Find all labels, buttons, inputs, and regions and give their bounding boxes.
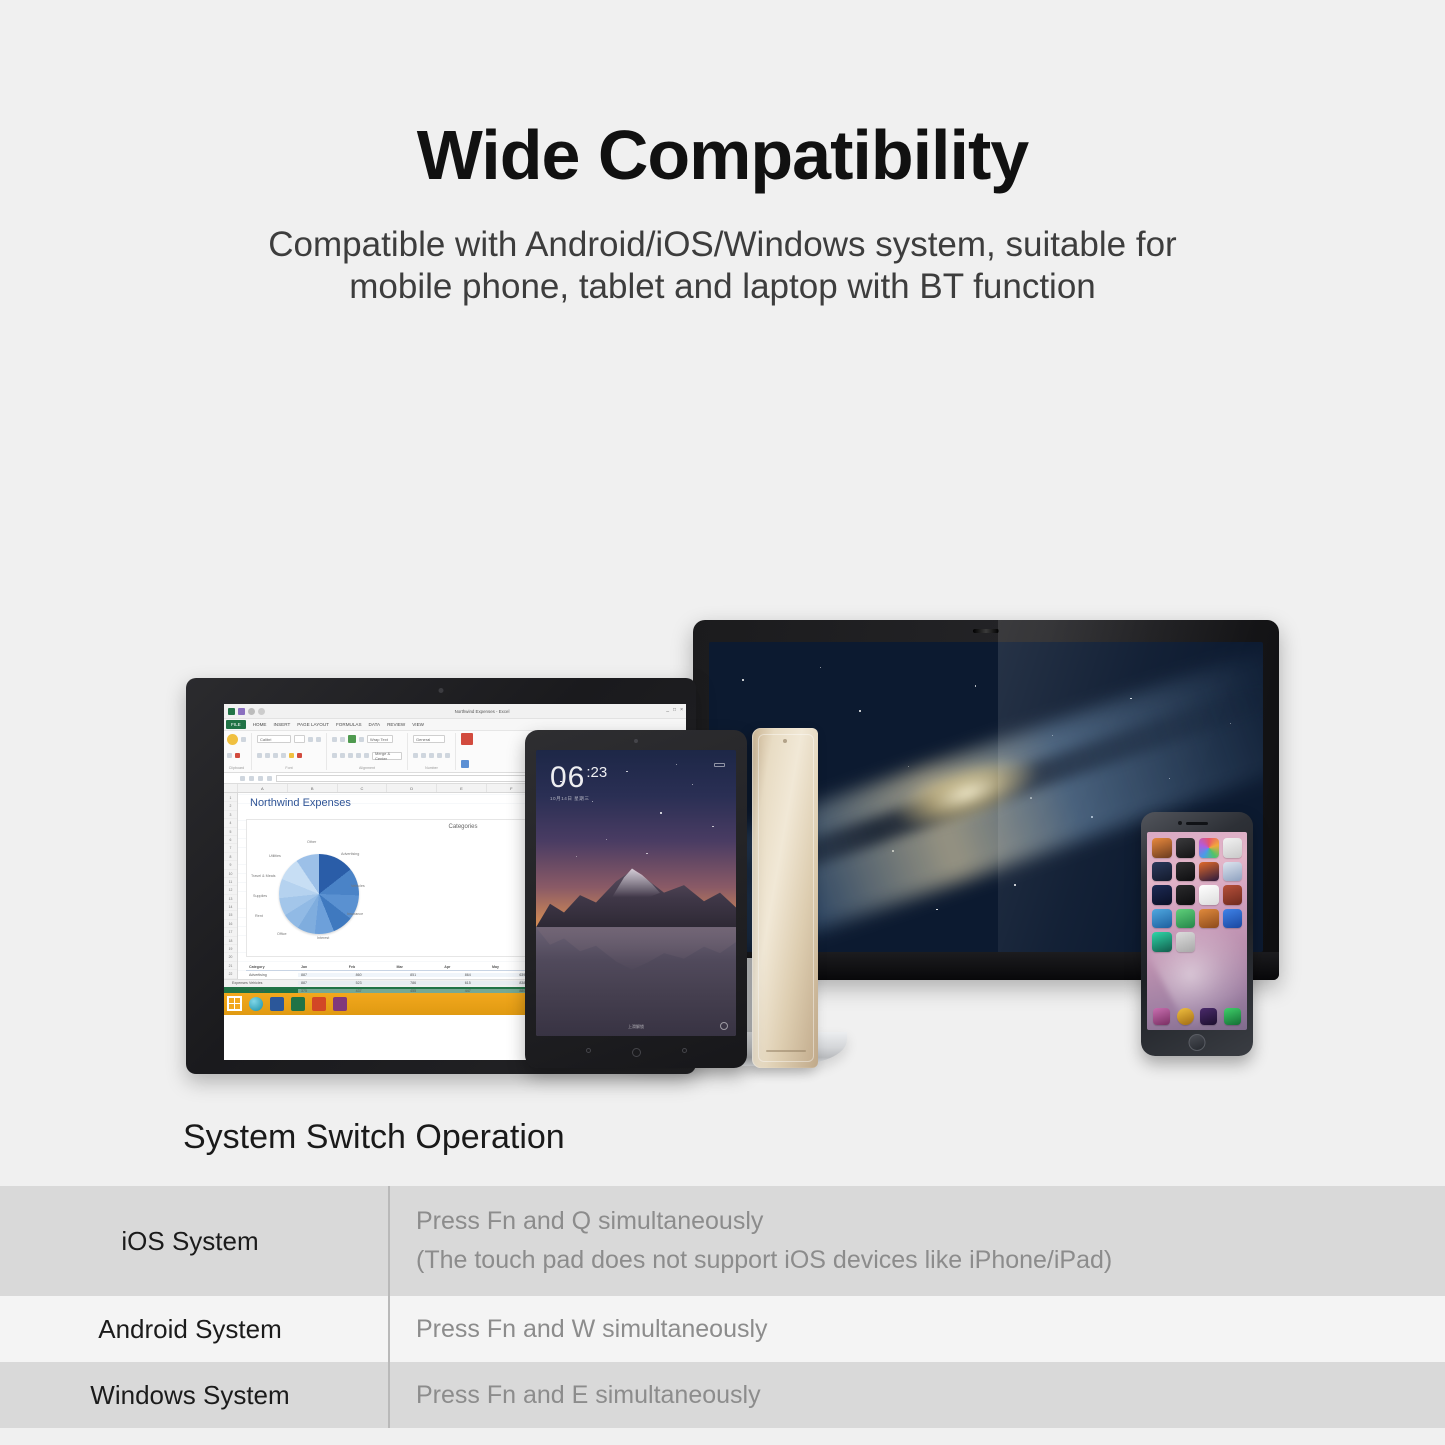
accept-formula-icon[interactable]	[258, 776, 263, 781]
tab-file[interactable]: FILE	[226, 720, 246, 729]
font-color-icon[interactable]	[297, 753, 302, 758]
row-header[interactable]: 2	[224, 802, 237, 810]
switch-section-heading: System Switch Operation	[183, 1118, 565, 1157]
row-header[interactable]: 18	[224, 937, 237, 945]
row-header[interactable]: 1	[224, 794, 237, 802]
row-header[interactable]: 22	[224, 970, 237, 978]
recents-key-icon[interactable]	[682, 1048, 687, 1053]
cell-value: 375	[298, 989, 353, 993]
col-jan: Jan	[298, 965, 346, 969]
align-center-icon[interactable]	[340, 753, 345, 758]
app-icon[interactable]	[1223, 838, 1243, 858]
pie-chart-slices	[279, 854, 359, 934]
window-controls[interactable]: _ □ ×	[666, 707, 683, 713]
cell-value: 615	[462, 981, 517, 985]
table-row-android[interactable]: Android System Press Fn and W simultaneo…	[0, 1296, 1445, 1362]
pie-label-travel-meals: Travel & Meals	[251, 874, 275, 878]
app-icon[interactable]	[1152, 862, 1172, 882]
close-icon[interactable]: ×	[680, 707, 683, 713]
font-name-box[interactable]: Calibri	[257, 735, 291, 743]
increase-font-icon[interactable]	[308, 737, 313, 742]
ribbon-group-font[interactable]: Calibri Font	[257, 733, 327, 770]
cell-value: 887	[298, 981, 353, 985]
row-header[interactable]: 5	[224, 828, 237, 836]
device-showcase: Northwind Expenses - Excel _ □ × FILE HO…	[0, 600, 1445, 1100]
cut-icon[interactable]	[241, 737, 246, 742]
copy-icon[interactable]	[227, 753, 232, 758]
app-grid[interactable]	[1152, 838, 1242, 952]
cell-styles-icon[interactable]	[461, 760, 469, 768]
ribbon-group-alignment[interactable]: Wrap Text Merge & Center Alignment	[332, 733, 408, 770]
pie-label-other: Other	[307, 840, 316, 844]
row-header[interactable]: 15	[224, 911, 237, 919]
lake-surface	[536, 927, 736, 1036]
clock-minutes: :23	[586, 764, 607, 781]
excel-icon[interactable]	[291, 997, 305, 1011]
format-painter-icon[interactable]	[235, 753, 240, 758]
pie-label-office: Office	[277, 932, 287, 936]
col-category: Category	[246, 965, 298, 969]
column-header-c[interactable]: C	[338, 784, 388, 792]
select-all-corner[interactable]	[224, 784, 238, 792]
row-header[interactable]: 12	[224, 886, 237, 894]
row-header[interactable]: 21	[224, 962, 237, 970]
lake-reflection	[536, 927, 736, 973]
table-row-ios[interactable]: iOS System Press Fn and Q simultaneously…	[0, 1186, 1445, 1296]
borders-icon[interactable]	[281, 753, 286, 758]
cell-category: Vehicles	[246, 981, 298, 985]
ios-instruction: Press Fn and Q simultaneously	[416, 1202, 1445, 1241]
tab-view[interactable]: VIEW	[412, 722, 424, 727]
col-feb: Feb	[346, 965, 394, 969]
sheet-heading: Northwind Expenses	[250, 797, 351, 809]
align-bottom-icon[interactable]	[348, 735, 356, 743]
tablet-camera-icon	[634, 739, 638, 743]
windows-instruction: Press Fn and E simultaneously	[416, 1376, 1445, 1415]
battery-icon	[714, 763, 725, 767]
row-header[interactable]: 16	[224, 920, 237, 928]
decrease-decimal-icon[interactable]	[445, 753, 450, 758]
row-desc-android: Press Fn and W simultaneously	[388, 1296, 1445, 1362]
app-icon[interactable]	[1199, 909, 1219, 929]
comma-icon[interactable]	[429, 753, 434, 758]
column-header-d[interactable]: D	[387, 784, 437, 792]
app-icon[interactable]	[1176, 885, 1196, 905]
tab-insert[interactable]: INSERT	[273, 722, 290, 727]
align-left-icon[interactable]	[332, 753, 337, 758]
group-label-alignment: Alignment	[332, 766, 402, 770]
percent-icon[interactable]	[421, 753, 426, 758]
insert-function-icon[interactable]	[267, 776, 272, 781]
row-header[interactable]: 9	[224, 861, 237, 869]
pie-label-supplies: Supplies	[253, 894, 267, 898]
phone-front-camera-icon	[1178, 821, 1182, 825]
pie-chart[interactable]: Other Advertising Vehicles Insurance Int…	[255, 838, 367, 950]
maximize-icon[interactable]: □	[673, 707, 676, 713]
edge-icon[interactable]	[249, 997, 263, 1011]
gold-tablet-back	[752, 728, 818, 1068]
row-header[interactable]: 14	[224, 903, 237, 911]
app-icon[interactable]	[1176, 932, 1196, 952]
app-icon[interactable]	[1176, 909, 1196, 929]
pie-label-utilities: Utilities	[269, 854, 281, 858]
pie-label-rent: Rent	[255, 914, 263, 918]
cancel-formula-icon[interactable]	[249, 776, 254, 781]
pie-label-vehicles: Vehicles	[351, 884, 365, 888]
row-header[interactable]: 6	[224, 836, 237, 844]
messages-icon[interactable]	[1224, 1008, 1241, 1025]
page-subtitle: Compatible with Android/iOS/Windows syst…	[0, 224, 1445, 309]
app-icon[interactable]	[1176, 838, 1196, 858]
decrease-indent-icon[interactable]	[356, 753, 361, 758]
tablet-lockscreen[interactable]: 06:23 10月14日 星期三 上滑解锁	[536, 750, 736, 1036]
home-key-icon[interactable]	[632, 1048, 641, 1057]
phone-app-icon[interactable]	[1153, 1008, 1170, 1025]
italic-icon[interactable]	[265, 753, 270, 758]
system-switch-table: iOS System Press Fn and Q simultaneously…	[0, 1186, 1445, 1428]
row-header[interactable]: 4	[224, 819, 237, 827]
android-instruction: Press Fn and W simultaneously	[416, 1310, 1445, 1349]
subtitle-line-2: mobile phone, tablet and laptop with BT …	[0, 266, 1445, 309]
app-slot-empty	[1223, 932, 1243, 952]
redo-icon[interactable]	[258, 708, 265, 715]
table-row-windows[interactable]: Windows System Press Fn and E simultaneo…	[0, 1362, 1445, 1428]
unlock-hint: 上滑解锁	[536, 1024, 736, 1030]
group-label-number: Number	[413, 766, 450, 770]
cell-value: 447	[462, 989, 517, 993]
row-header[interactable]: 20	[224, 953, 237, 961]
cell-value: 851	[407, 973, 462, 977]
tab-home[interactable]: HOME	[253, 722, 267, 727]
cell-category: Insurance	[246, 989, 298, 993]
word-icon[interactable]	[270, 997, 284, 1011]
excel-row-headers[interactable]: 1 2 3 4 5 6 7 8 9 10 11 12 13 14 15 16 1	[224, 793, 238, 979]
col-mar: Mar	[394, 965, 442, 969]
ios-note: (The touch pad does not support iOS devi…	[416, 1241, 1445, 1280]
app-icon[interactable]	[1152, 909, 1172, 929]
number-format-box[interactable]: General	[413, 735, 445, 743]
cell-value: 523	[353, 981, 408, 985]
music-icon[interactable]	[1200, 1008, 1217, 1025]
gold-tablet-edge-line	[758, 734, 814, 1062]
wrap-text-button[interactable]: Wrap Text	[367, 735, 393, 743]
app-icon[interactable]	[1176, 862, 1196, 882]
undo-icon[interactable]	[248, 708, 255, 715]
onenote-icon[interactable]	[333, 997, 347, 1011]
conditional-formatting-icon[interactable]	[461, 733, 473, 745]
clock-hours: 06	[550, 764, 585, 793]
row-header[interactable]: 13	[224, 895, 237, 903]
paste-icon[interactable]	[227, 734, 238, 745]
increase-indent-icon[interactable]	[364, 753, 369, 758]
row-label-windows: Windows System	[0, 1380, 388, 1411]
pie-label-interest: Interest	[317, 936, 329, 940]
cell-category: Advertising	[246, 973, 298, 977]
tab-data[interactable]: DATA	[369, 722, 381, 727]
row-header[interactable]: 19	[224, 945, 237, 953]
app-icon[interactable]	[1223, 885, 1243, 905]
row-desc-windows: Press Fn and E simultaneously	[388, 1362, 1445, 1428]
decrease-font-icon[interactable]	[316, 737, 321, 742]
bold-icon[interactable]	[257, 753, 262, 758]
cell-value: 455	[407, 989, 462, 993]
row-header[interactable]: 8	[224, 853, 237, 861]
monitor-webcam-icon	[973, 629, 999, 633]
lockscreen-date: 10月14日 星期三	[550, 796, 607, 802]
app-icon[interactable]	[1199, 862, 1219, 882]
gold-tablet-camera-icon	[783, 739, 787, 743]
safari-icon[interactable]	[1177, 1008, 1194, 1025]
column-header-a[interactable]: A	[238, 784, 288, 792]
app-icon[interactable]	[1152, 838, 1172, 858]
tab-formulas[interactable]: FORMULAS	[336, 722, 362, 727]
app-icon[interactable]	[1152, 932, 1172, 952]
pie-label-insurance: Insurance	[347, 912, 363, 916]
row-header[interactable]: 11	[224, 878, 237, 886]
ribbon-group-number[interactable]: General Number	[413, 733, 456, 770]
cell-value: 860	[353, 973, 408, 977]
cell-value: 437	[353, 989, 408, 993]
app-slot-empty	[1199, 932, 1219, 952]
ribbon-group-styles[interactable]	[461, 733, 478, 770]
row-header[interactable]: 7	[224, 844, 237, 852]
row-label-android: Android System	[0, 1314, 388, 1345]
camera-shortcut-icon[interactable]	[720, 1022, 728, 1030]
tab-review[interactable]: REVIEW	[387, 722, 405, 727]
excel-save-icon[interactable]	[228, 708, 235, 715]
column-header-e[interactable]: E	[437, 784, 487, 792]
start-button-icon[interactable]	[227, 996, 242, 1011]
subtitle-line-1: Compatible with Android/iOS/Windows syst…	[0, 224, 1445, 267]
column-header-b[interactable]: B	[288, 784, 338, 792]
document-title: Northwind Expenses - Excel	[455, 709, 510, 714]
laptop-webcam-icon	[439, 688, 444, 693]
align-top-icon[interactable]	[332, 737, 337, 742]
phone-dock[interactable]	[1153, 1008, 1241, 1025]
phone-earpiece-icon	[1186, 822, 1208, 825]
back-key-icon[interactable]	[586, 1048, 591, 1053]
excel-quickaccess-icon[interactable]	[238, 708, 245, 715]
tab-page-layout[interactable]: PAGE LAYOUT	[297, 722, 329, 727]
font-size-box[interactable]	[294, 735, 305, 743]
cell-value: 786	[407, 981, 462, 985]
row-desc-ios: Press Fn and Q simultaneously (The touch…	[388, 1186, 1445, 1296]
hero-section: Wide Compatibility Compatible with Andro…	[0, 0, 1445, 309]
underline-icon[interactable]	[273, 753, 278, 758]
cell-value: 864	[462, 973, 517, 977]
merge-center-button[interactable]: Merge & Center	[372, 752, 402, 760]
col-apr: Apr	[441, 965, 489, 969]
home-button-icon[interactable]	[1189, 1034, 1206, 1051]
group-label-clipboard: Clipboard	[227, 766, 246, 770]
minimize-icon[interactable]: _	[666, 707, 669, 713]
powerpoint-icon[interactable]	[312, 997, 326, 1011]
fill-color-icon[interactable]	[289, 753, 294, 758]
row-header[interactable]: 3	[224, 811, 237, 819]
row-header[interactable]: 10	[224, 870, 237, 878]
name-box-icon[interactable]	[240, 776, 245, 781]
app-icon[interactable]	[1223, 862, 1243, 882]
app-icon[interactable]	[1199, 885, 1219, 905]
app-icon[interactable]	[1223, 909, 1243, 929]
page-title: Wide Compatibility	[0, 118, 1445, 194]
excel-title-bar: Northwind Expenses - Excel _ □ ×	[224, 704, 686, 719]
tablet-soft-keys[interactable]	[525, 1048, 747, 1057]
increase-decimal-icon[interactable]	[437, 753, 442, 758]
pie-label-advertising: Advertising	[341, 852, 359, 856]
phone-home-screen[interactable]	[1147, 832, 1247, 1030]
ios-phone	[1141, 812, 1253, 1056]
group-label-font: Font	[257, 766, 321, 770]
currency-icon[interactable]	[413, 753, 418, 758]
gold-tablet-speaker-slot	[766, 1050, 806, 1053]
align-right-icon[interactable]	[348, 753, 353, 758]
app-icon[interactable]	[1199, 838, 1219, 858]
ribbon-group-clipboard[interactable]: Clipboard	[227, 733, 252, 770]
cell-value: 887	[298, 973, 353, 977]
app-icon[interactable]	[1152, 885, 1172, 905]
row-header[interactable]: 17	[224, 928, 237, 936]
row-label-ios: iOS System	[0, 1226, 388, 1257]
orientation-icon[interactable]	[359, 737, 364, 742]
align-middle-icon[interactable]	[340, 737, 345, 742]
android-tablet: 06:23 10月14日 星期三 上滑解锁	[525, 730, 747, 1068]
lockscreen-clock: 06:23 10月14日 星期三	[550, 764, 607, 802]
